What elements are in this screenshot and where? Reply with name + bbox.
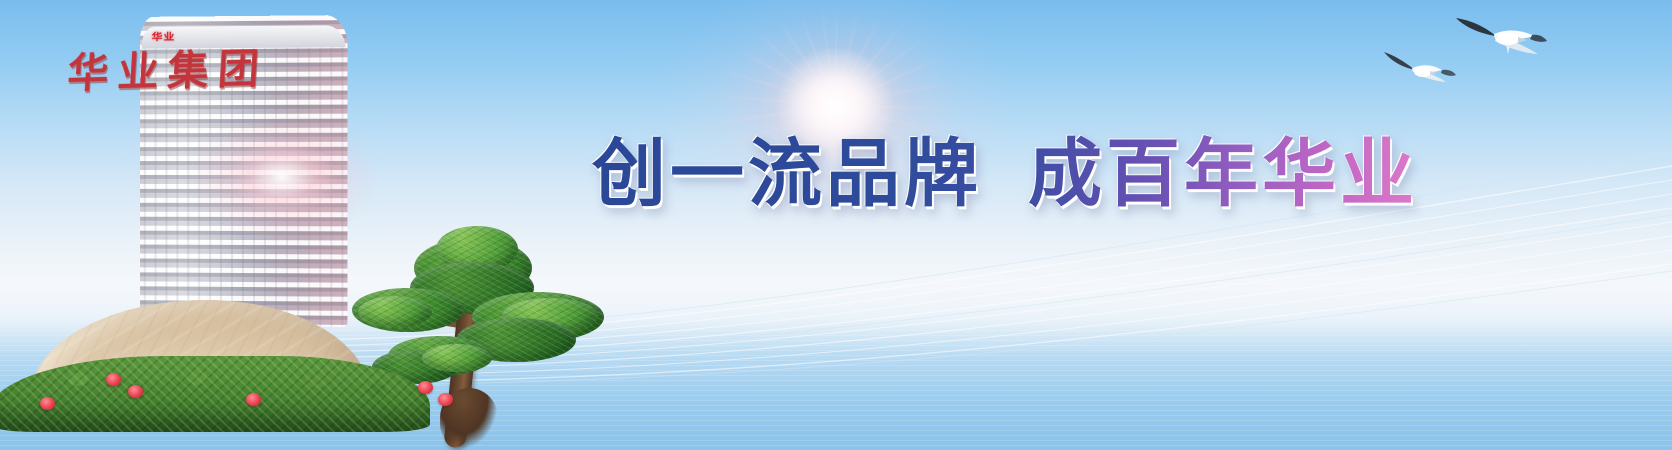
flower-icon [128, 385, 143, 398]
green-hedge [0, 356, 430, 432]
flower-icon [106, 373, 121, 386]
flower-icon [40, 397, 55, 410]
hedge-texture [0, 356, 430, 432]
flower-icon [418, 381, 433, 394]
seagull-icon [1452, 12, 1548, 74]
monument-inscription: 华业集团 [66, 32, 340, 99]
tree-foliage [358, 296, 432, 328]
company-hero-banner: 华业 华业集团 创一流品牌 成百年华业 [0, 0, 1672, 450]
slogan-part-2: 成百年华业 [1028, 137, 1418, 211]
slogan-part-1: 创一流品牌 [592, 137, 982, 211]
flower-icon [246, 393, 261, 406]
flower-icon [438, 393, 453, 406]
seagull-icon [1382, 44, 1458, 90]
slogan-headline: 创一流品牌 成百年华业 [592, 131, 1418, 217]
tree-foliage [422, 344, 492, 372]
